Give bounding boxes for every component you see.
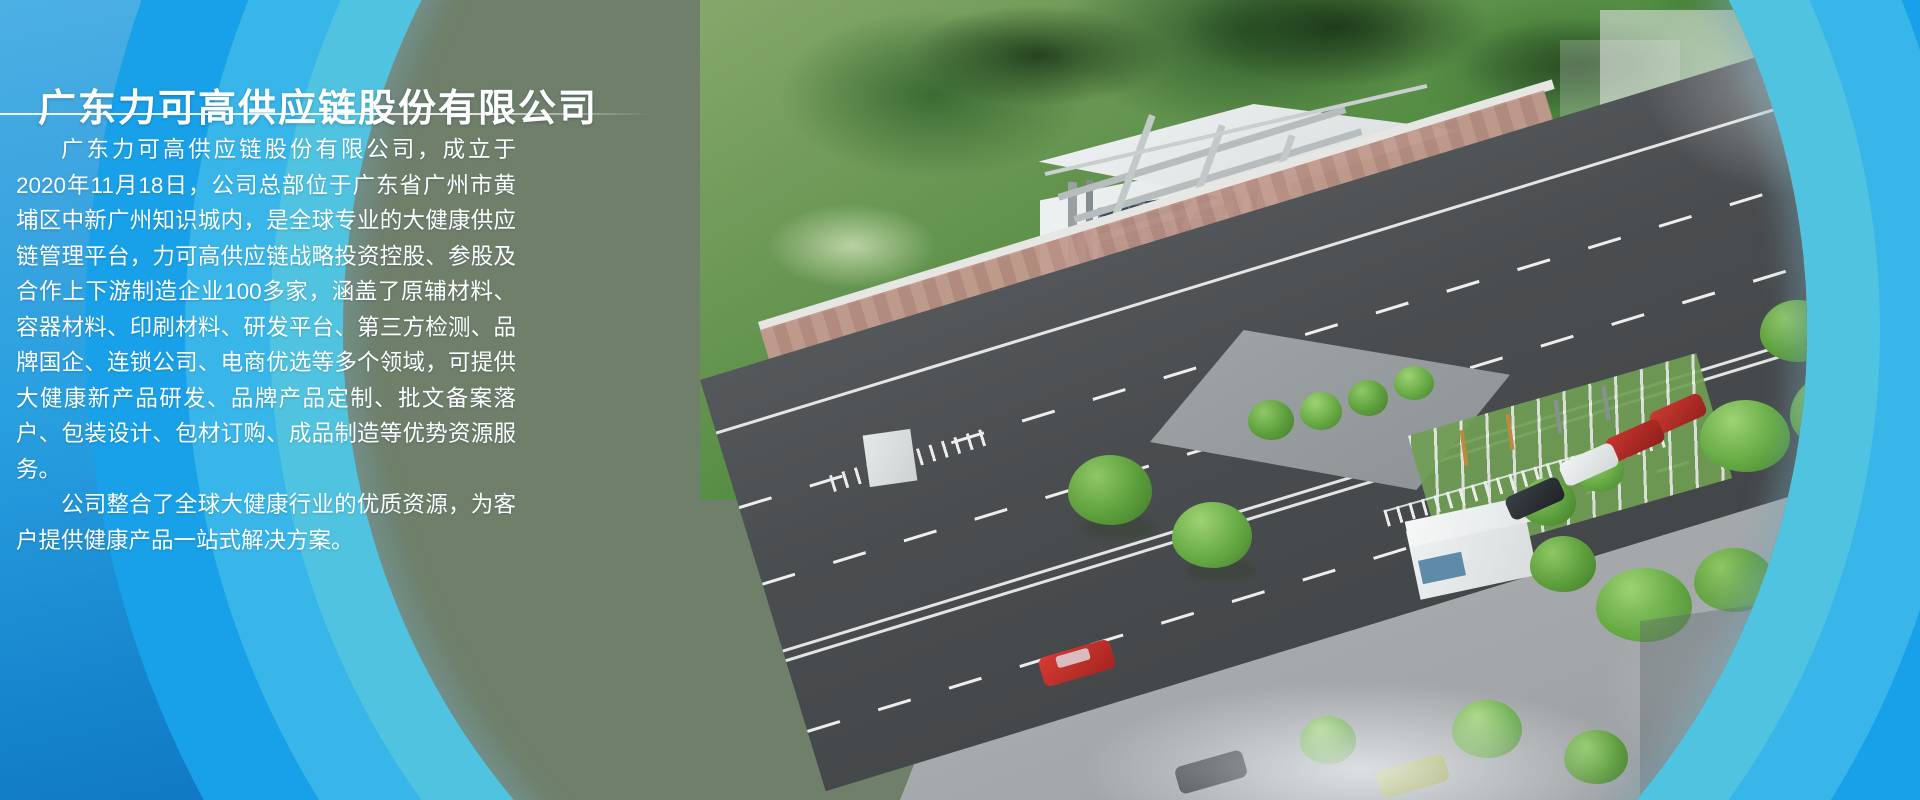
intro-text-panel: 广东力可高供应链股份有限公司 广东力可高供应链股份有限公司，成立于2020年11… xyxy=(0,0,660,800)
about-paragraph-2: 公司整合了全球大健康行业的优质资源，为客户提供健康产品一站式解决方案。 xyxy=(16,487,516,558)
page-title: 广东力可高供应链股份有限公司 xyxy=(38,77,598,132)
title-divider xyxy=(0,113,652,115)
about-body: 广东力可高供应链股份有限公司，成立于2020年11月18日，公司总部位于广东省广… xyxy=(16,132,516,558)
banner-stage: 广东力可高供应链股份有限公司 广东力可高供应链股份有限公司，成立于2020年11… xyxy=(0,0,1920,800)
about-paragraph-1: 广东力可高供应链股份有限公司，成立于2020年11月18日，公司总部位于广东省广… xyxy=(16,132,516,487)
